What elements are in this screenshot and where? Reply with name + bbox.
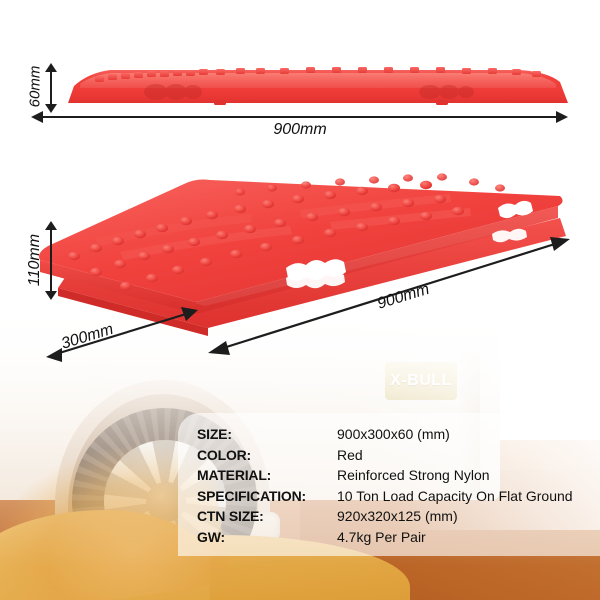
spec-row-material: MATERIAL: Reinforced Strong Nylon xyxy=(197,465,573,486)
spec-row-ctn-size: CTN SIZE: 920x320x125 (mm) xyxy=(197,506,573,527)
spec-label-ctn-size: CTN SIZE: xyxy=(197,506,337,527)
spec-value-gw: 4.7kg Per Pair xyxy=(337,527,573,548)
dim-110mm-line xyxy=(50,229,52,293)
dim-110mm-label: 110mm xyxy=(26,220,44,300)
dim-300mm-arrow-start xyxy=(46,348,62,362)
spec-value-color: Red xyxy=(337,445,573,466)
spec-value-material: Reinforced Strong Nylon xyxy=(337,465,573,486)
dim-900mm-pair-arrow-end xyxy=(550,237,570,251)
spec-row-color: COLOR: Red xyxy=(197,445,573,466)
board-side-profile xyxy=(0,0,600,130)
board-profile-foot-2 xyxy=(436,100,448,105)
spec-table: SIZE: 900x300x60 (mm) COLOR: Red MATERIA… xyxy=(197,424,573,547)
spec-value-size: 900x300x60 (mm) xyxy=(337,424,573,445)
dim-60mm-label: 60mm xyxy=(27,57,44,117)
dim-900mm-pair-arrow-start xyxy=(208,341,230,355)
spec-row-specification: SPECIFICATION: 10 Ton Load Capacity On F… xyxy=(197,486,573,507)
dim-900mm-side-label: 900mm xyxy=(0,121,600,139)
dim-60mm-line xyxy=(50,70,52,106)
product-spec-image: X-BULL xyxy=(0,0,600,600)
spec-label-size: SIZE: xyxy=(197,424,337,445)
dim-110mm-arrow-down xyxy=(45,291,57,300)
board-profile-foot-1 xyxy=(214,100,226,105)
spec-row-gw: GW: 4.7kg Per Pair xyxy=(197,527,573,548)
spec-value-specification: 10 Ton Load Capacity On Flat Ground xyxy=(337,486,573,507)
spec-panel: SIZE: 900x300x60 (mm) COLOR: Red MATERIA… xyxy=(178,413,600,556)
spec-row-size: SIZE: 900x300x60 (mm) xyxy=(197,424,573,445)
spec-label-color: COLOR: xyxy=(197,445,337,466)
spec-label-specification: SPECIFICATION: xyxy=(197,486,337,507)
spec-value-ctn-size: 920x320x125 (mm) xyxy=(337,506,573,527)
dim-60mm-arrow-up xyxy=(45,63,57,72)
dim-900mm-side-line xyxy=(42,116,558,118)
spec-label-gw: GW: xyxy=(197,527,337,548)
dim-110mm-arrow-up xyxy=(45,221,57,230)
dim-60mm-arrow-down xyxy=(45,104,57,113)
spec-label-material: MATERIAL: xyxy=(197,465,337,486)
